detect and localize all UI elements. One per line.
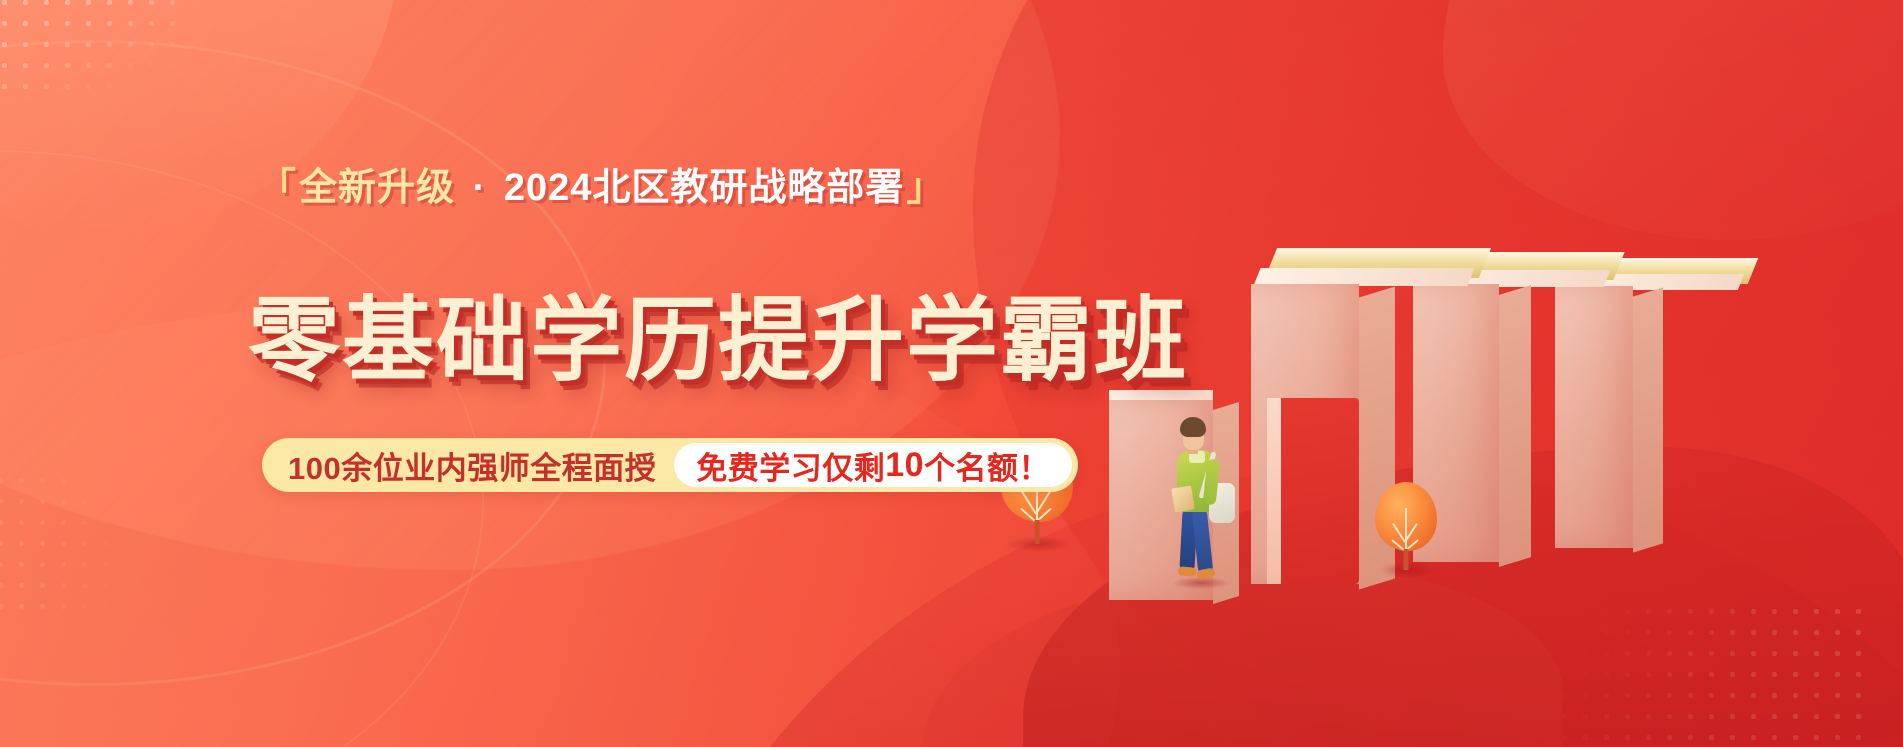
- banner-headline: 零基础学历提升学霸班: [248, 294, 1188, 390]
- pill-right-suffix: 个名额！: [924, 443, 1050, 488]
- subtitle-separator: ·: [455, 167, 504, 209]
- text-content-group: 「全新升级 · 2024北区教研战略部署」 零基础学历提升学霸班 100余位业内…: [0, 0, 1100, 747]
- pill-right-prefix: 免费学习仅剩: [696, 443, 885, 488]
- bracket-close-glyph: 」: [904, 167, 947, 209]
- tree-right: [1375, 482, 1437, 570]
- pill-right-badge: 免费学习仅剩10个名额！: [674, 443, 1072, 487]
- student-figure: [1171, 417, 1237, 592]
- offer-pill[interactable]: 100余位业内强师全程面授 免费学习仅剩10个名额！: [262, 438, 1078, 492]
- subtitle-highlight: 全新升级: [299, 167, 455, 209]
- subtitle-rest: 2024北区教研战略部署: [504, 167, 905, 209]
- pill-left-label: 100余位业内强师全程面授: [262, 443, 674, 488]
- held-book: [1171, 486, 1195, 513]
- banner-subtitle: 「全新升级 · 2024北区教研战略部署」: [256, 156, 947, 211]
- bracket-open-glyph: 「: [256, 167, 299, 209]
- promo-banner: 「全新升级 · 2024北区教研战略部署」 零基础学历提升学霸班 100余位业内…: [0, 0, 1903, 747]
- pill-seat-count: 10: [885, 446, 924, 485]
